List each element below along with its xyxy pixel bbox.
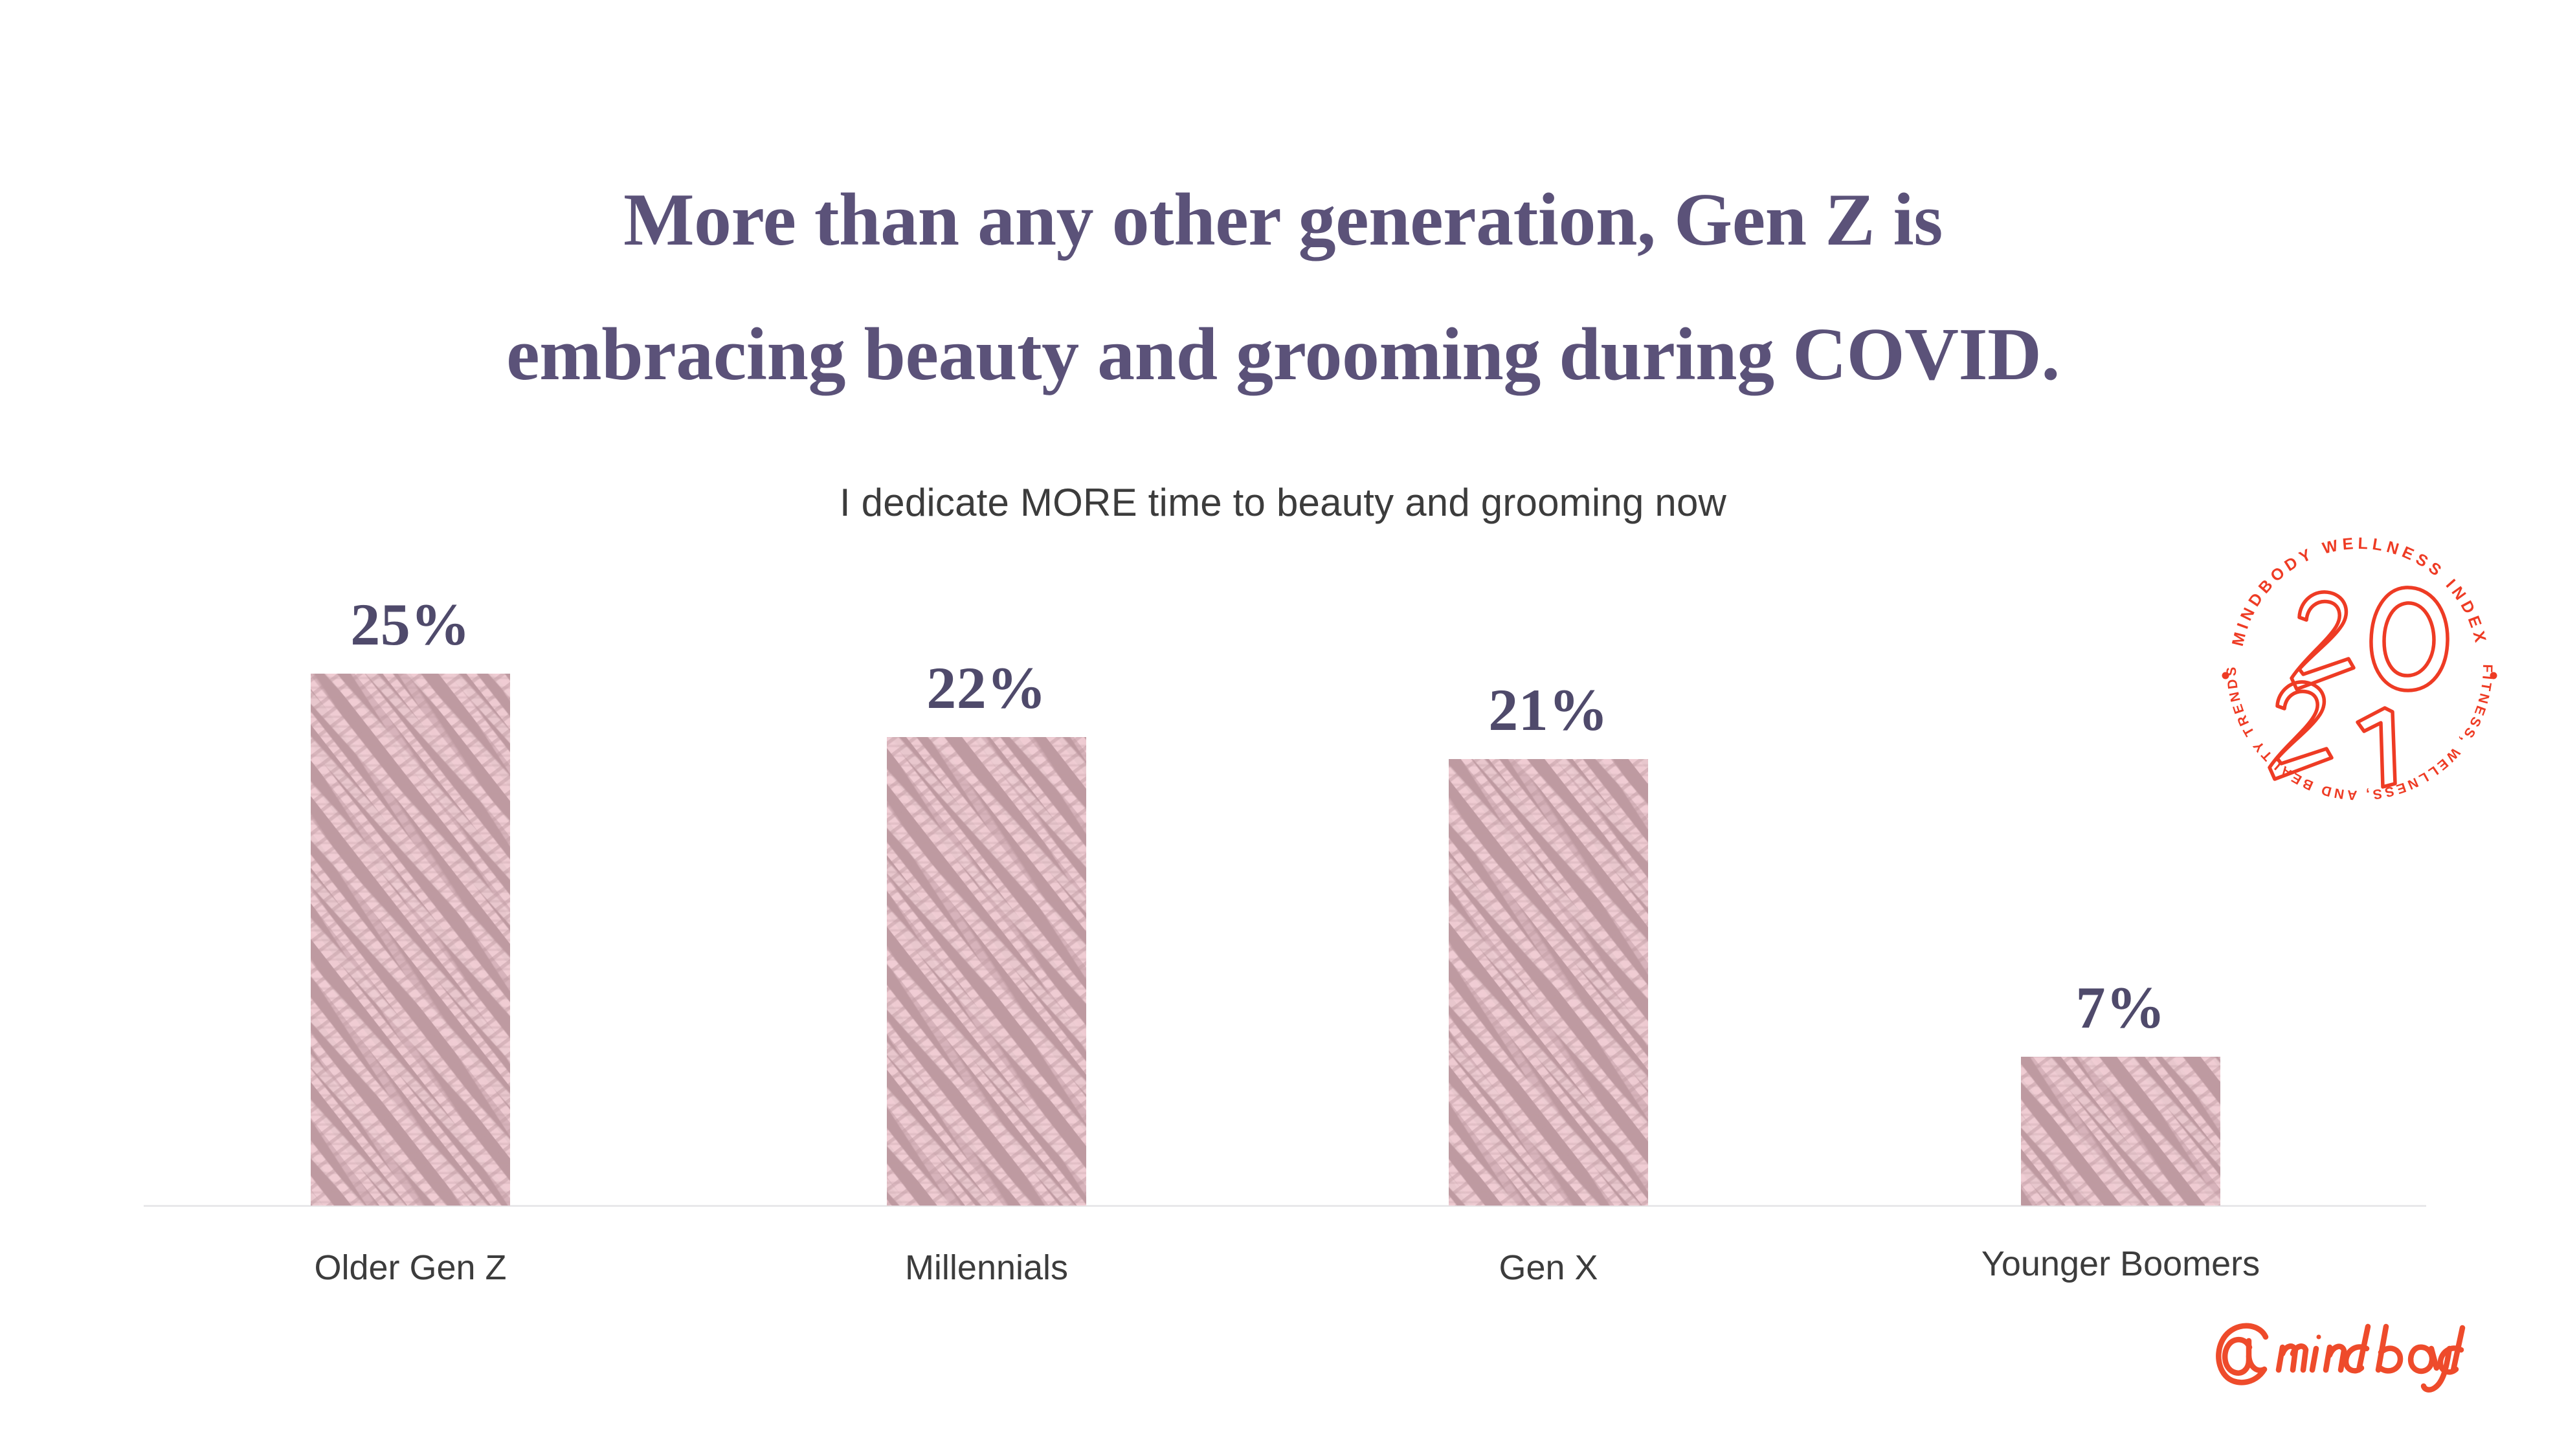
bar-category-label: Millennials (783, 1248, 1190, 1288)
bar-millennials (887, 737, 1086, 1206)
mindbody-script-icon (2218, 1326, 2462, 1383)
bar-gen-x (1449, 759, 1648, 1206)
bar-older-gen-z (311, 674, 510, 1206)
bar-value-label: 7% (1982, 973, 2259, 1042)
bar-category-label: Older Gen Z (207, 1248, 614, 1288)
bar-value-label: 21% (1410, 676, 1687, 744)
badge-arc-top-text: MINDBODY WELLNESS INDEX (2229, 535, 2490, 648)
bar-group-older-gen-z: 25% Older Gen Z (311, 0, 510, 1456)
bar-younger-boomers (2021, 1057, 2220, 1206)
bar-chart: 25% Older Gen Z 22% Millennials 21% Gen … (0, 0, 2566, 1456)
bar-value-label: 22% (848, 654, 1125, 722)
mindbody-wellness-index-badge: MINDBODY WELLNESS INDEX FITNESS, WELLNES… (2201, 509, 2518, 826)
bar-category-label: Younger Boomers (1917, 1244, 2324, 1284)
bar-value-label: 25% (272, 590, 549, 659)
badge-dot-left (2222, 672, 2229, 679)
badge-dot-right (2490, 672, 2497, 679)
bar-group-millennials: 22% Millennials (887, 0, 1086, 1456)
badge-year-top (2292, 588, 2448, 690)
bar-group-gen-x: 21% Gen X (1449, 0, 1648, 1456)
bar-category-label: Gen X (1345, 1248, 1752, 1288)
mindbody-handle-logo (2209, 1308, 2468, 1399)
bar-group-younger-boomers: 7% Younger Boomers (2021, 0, 2220, 1456)
badge-arc-bottom-text: FITNESS, WELLNESS, AND BEAUTY TRENDS (2224, 664, 2495, 802)
